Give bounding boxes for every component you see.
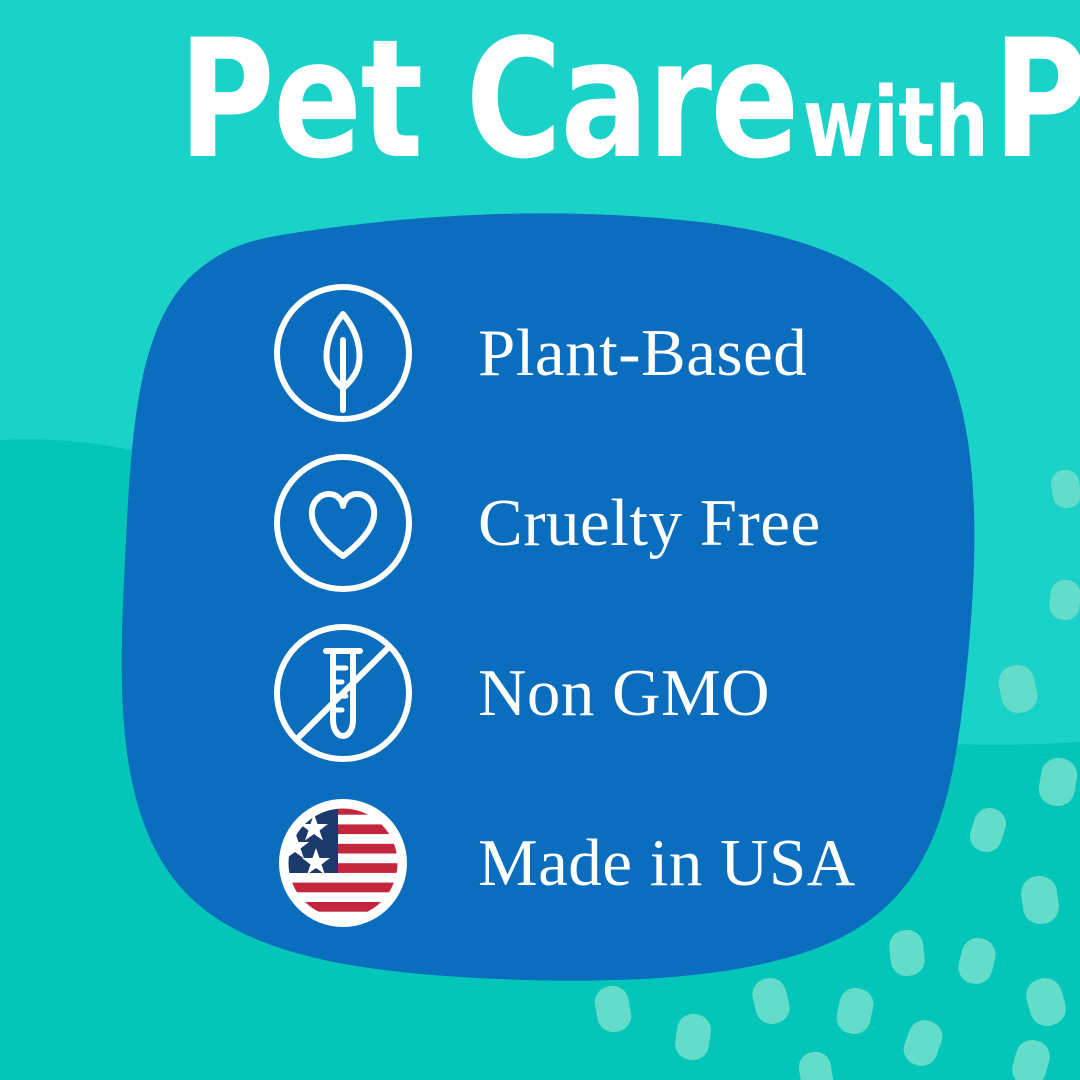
claim-label: Non GMO [478, 660, 770, 727]
title-part-pet-care: Pet Care [179, 18, 798, 182]
title-part-purpose: Purpose [993, 18, 1080, 182]
title-part-with: with [798, 75, 993, 171]
promo-graphic: Pet CarewithPurpose® Plant-Based [0, 0, 1080, 1080]
no-gmo-test-tube-icon [270, 620, 416, 766]
claim-label: Made in USA [478, 830, 856, 897]
heart-icon [270, 450, 416, 596]
page-title: Pet CarewithPurpose® [0, 18, 1080, 182]
claim-label: Cruelty Free [478, 490, 821, 557]
claim-label: Plant-Based [478, 320, 807, 387]
claims-list: Plant-Based Cruelty Free [270, 278, 910, 938]
claim-row: Plant-Based [270, 278, 910, 428]
leaf-icon [270, 280, 416, 426]
claim-row: Made in USA [270, 788, 910, 938]
usa-flag-icon [270, 790, 416, 936]
claim-row: Non GMO [270, 618, 910, 768]
claim-row: Cruelty Free [270, 448, 910, 598]
